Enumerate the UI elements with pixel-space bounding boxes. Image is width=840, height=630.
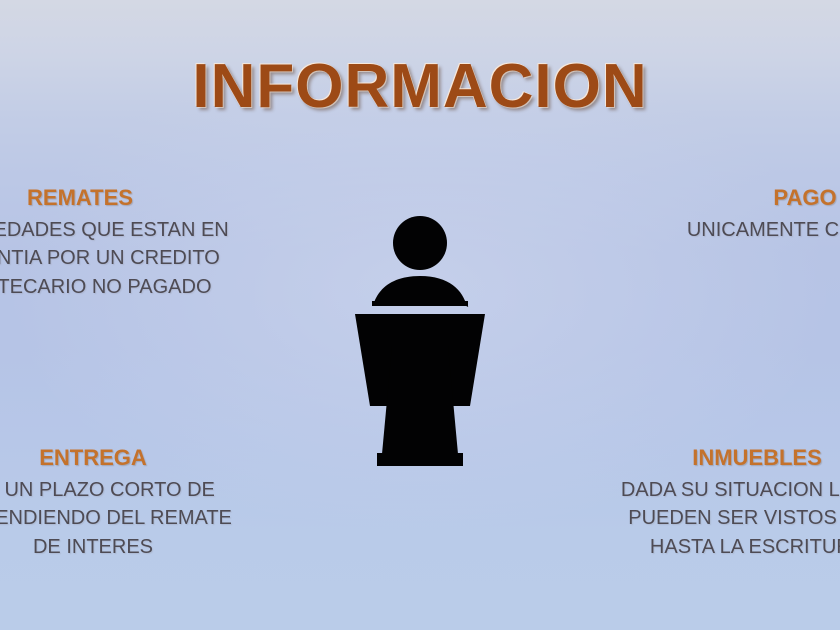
block-heading-entrega: ENTREGA <box>0 446 248 469</box>
block-line: GARANTIA POR UN CREDITO <box>0 244 230 272</box>
block-line: HASTA LA ESCRITURA <box>607 533 840 561</box>
page-title: INFORMACION <box>0 56 840 118</box>
text-block-inmuebles: INMUEBLES DADA SU SITUACION LEGAL PUEDEN… <box>607 446 840 561</box>
block-line: DE UN PLAZO CORTO DE <box>0 476 248 504</box>
block-line: DE INTERES <box>0 533 248 561</box>
text-block-entrega: ENTREGA DE UN PLAZO CORTO DE DEPENDIENDO… <box>0 446 248 561</box>
block-heading-inmuebles: INMUEBLES <box>607 446 840 469</box>
block-line: DEPENDIENDO DEL REMATE <box>0 504 248 532</box>
speaker-podium-icon <box>340 206 505 476</box>
slide-canvas: INFORMACION REMATES PROPIEDADES QUE ESTA… <box>0 0 840 630</box>
block-line: HIPOTECARIO NO PAGADO <box>0 273 230 301</box>
block-line: PUEDEN SER VISTOS POR <box>607 504 840 532</box>
block-line: DADA SU SITUACION LEGAL <box>607 476 840 504</box>
block-heading-remates: REMATES <box>0 186 230 209</box>
text-block-remates: REMATES PROPIEDADES QUE ESTAN EN GARANTI… <box>0 186 230 301</box>
text-block-pago: PAGO UNICAMENTE CONTADO <box>655 186 840 244</box>
block-line: PROPIEDADES QUE ESTAN EN <box>0 216 230 244</box>
block-heading-pago: PAGO <box>655 186 840 209</box>
block-line: UNICAMENTE CONTADO <box>655 216 840 244</box>
